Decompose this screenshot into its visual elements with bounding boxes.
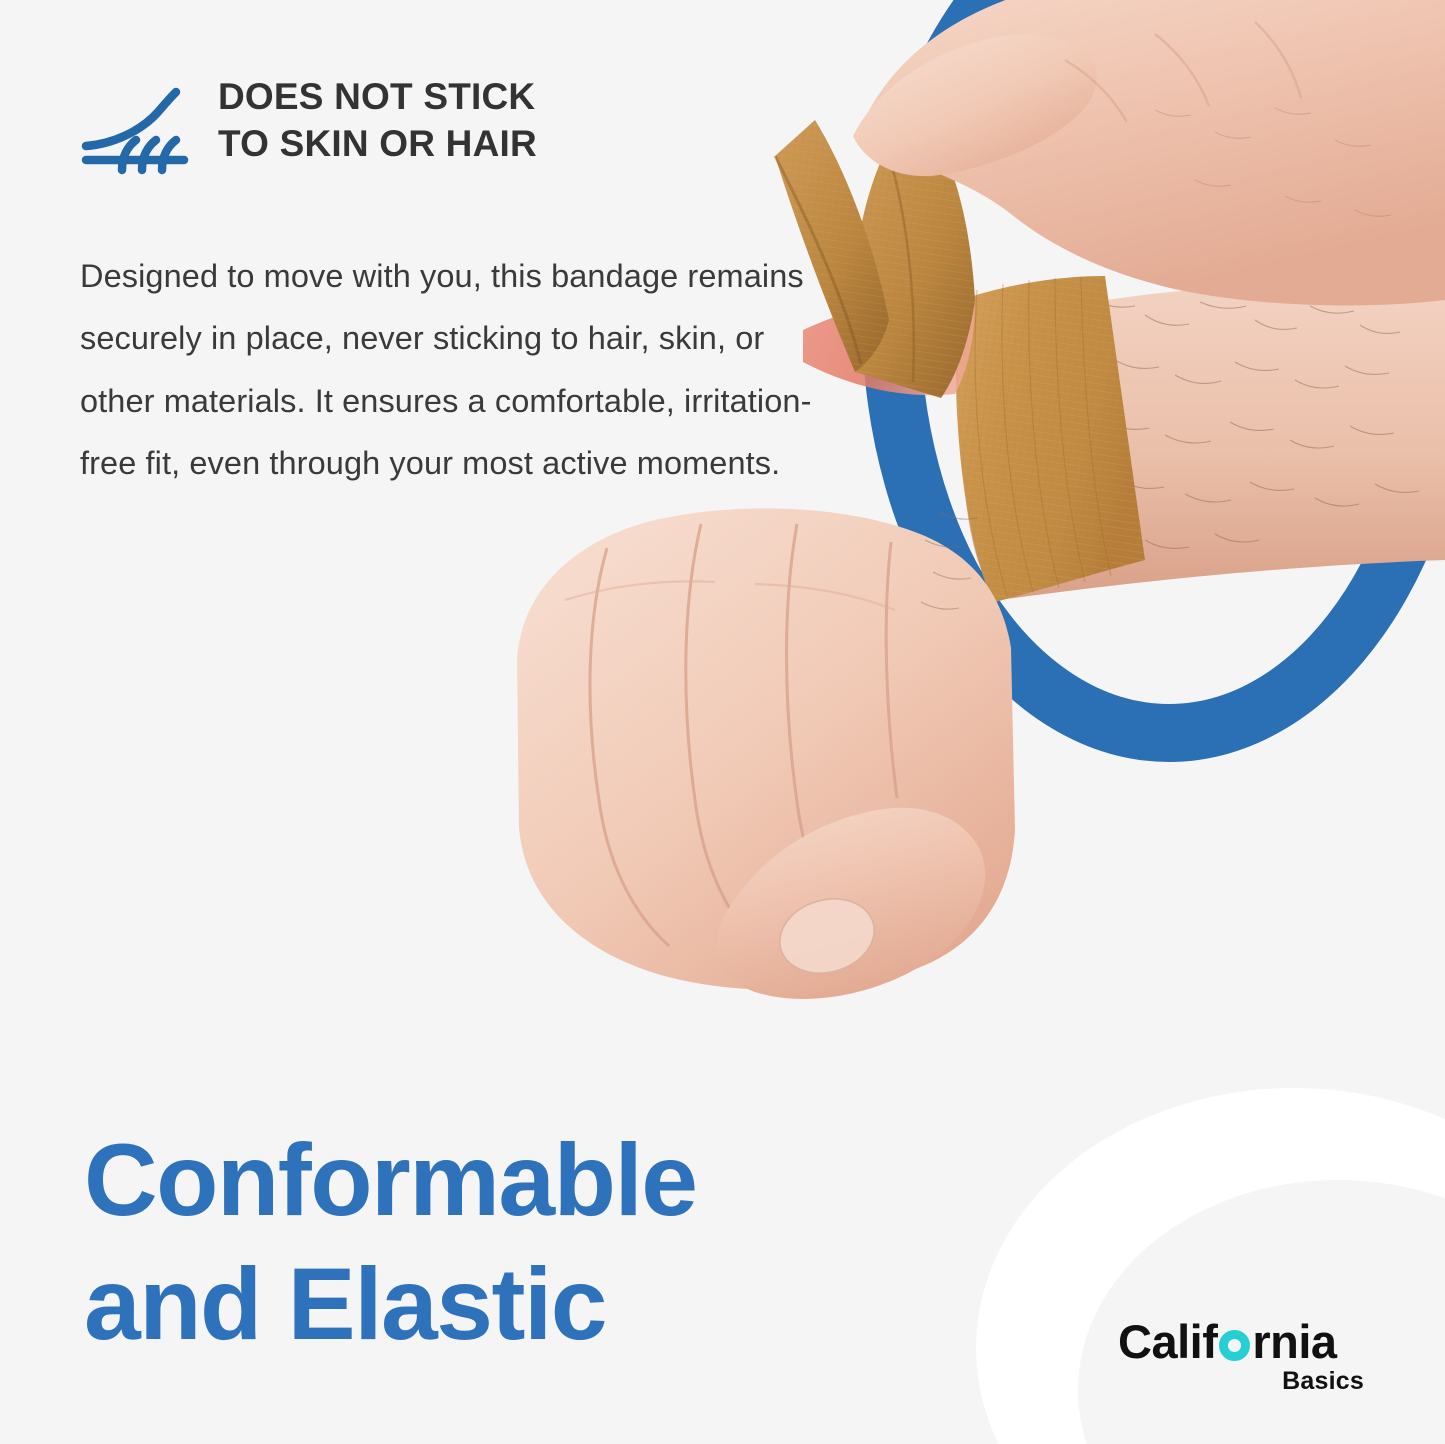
brand-name-part-2: rnia <box>1252 1318 1336 1365</box>
white-ring-inner-decoration <box>1078 1180 1445 1444</box>
blue-ring-decoration <box>862 0 1445 762</box>
brand-o-ring-icon <box>1219 1330 1250 1361</box>
headline: Conformable and Elastic <box>84 1118 964 1367</box>
feature-header: DOES NOT STICK TO SKIN OR HAIR <box>78 74 698 176</box>
brand-subtitle: Basics <box>1118 1367 1368 1396</box>
feature-title: DOES NOT STICK TO SKIN OR HAIR <box>218 74 537 167</box>
brand-name-part-1: Calif <box>1118 1318 1217 1365</box>
product-feature-card: DOES NOT STICK TO SKIN OR HAIR Designed … <box>0 0 1445 1444</box>
brand-logo: Calif rnia Basics <box>1118 1318 1368 1396</box>
feature-description: Designed to move with you, this bandage … <box>80 245 825 495</box>
no-stick-hair-icon <box>78 84 192 176</box>
product-photo-alt-text: Hand making a fist with a tan cohesive b… <box>0 0 1 1</box>
brand-name: Calif rnia <box>1118 1318 1368 1365</box>
